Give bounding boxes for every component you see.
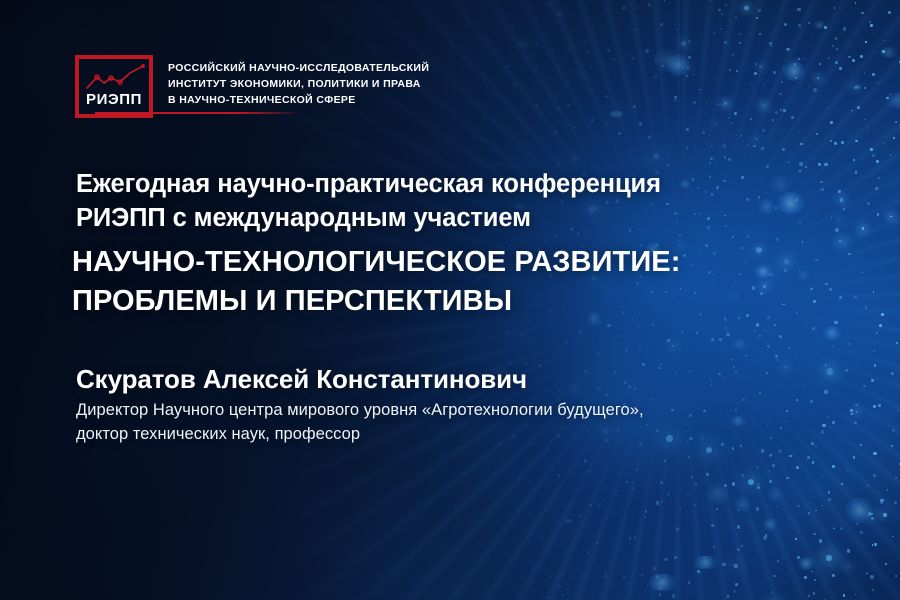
institute-name-line-1: РОССИЙСКИЙ НАУЧНО-ИССЛЕДОВАТЕЛЬСКИЙ [168,61,429,77]
logo-wordmark: РИЭПП [86,92,142,107]
conference-subtitle-line-1: Ежегодная научно-практическая конференци… [76,168,661,202]
speaker-role-line-1: Директор Научного центра мирового уровня… [76,399,644,423]
presentation-slide: РИЭПП РОССИЙСКИЙ НАУЧНО-ИССЛЕДОВАТЕЛЬСКИ… [0,0,900,600]
institute-name-line-3: В НАУЧНО-ТЕХНИЧЕСКОЙ СФЕРЕ [168,93,429,109]
conference-title: НАУЧНО-ТЕХНОЛОГИЧЕСКОЕ РАЗВИТИЕ: ПРОБЛЕМ… [72,243,681,322]
slide-content: РИЭПП РОССИЙСКИЙ НАУЧНО-ИССЛЕДОВАТЕЛЬСКИ… [0,0,900,600]
institute-name-line-2: ИНСТИТУТ ЭКОНОМИКИ, ПОЛИТИКИ И ПРАВА [168,77,429,93]
logo-mark: РИЭПП [75,55,153,118]
speaker-name: Скуратов Алексей Константинович [76,364,527,395]
conference-title-line-1: НАУЧНО-ТЕХНОЛОГИЧЕСКОЕ РАЗВИТИЕ: [72,243,681,282]
institute-name: РОССИЙСКИЙ НАУЧНО-ИССЛЕДОВАТЕЛЬСКИЙ ИНСТ… [168,55,429,109]
conference-title-line-2: ПРОБЛЕМЫ И ПЕРСПЕКТИВЫ [72,282,681,321]
conference-subtitle-line-2: РИЭПП с международным участием [76,202,661,236]
speaker-role-line-2: доктор технических наук, профессор [76,423,644,447]
speaker-role: Директор Научного центра мирового уровня… [76,399,644,447]
riepp-logo: РИЭПП РОССИЙСКИЙ НАУЧНО-ИССЛЕДОВАТЕЛЬСКИ… [75,55,429,118]
logo-underline-rule [95,112,295,114]
trend-line-chart-icon [84,63,148,93]
conference-subtitle: Ежегодная научно-практическая конференци… [76,168,661,236]
